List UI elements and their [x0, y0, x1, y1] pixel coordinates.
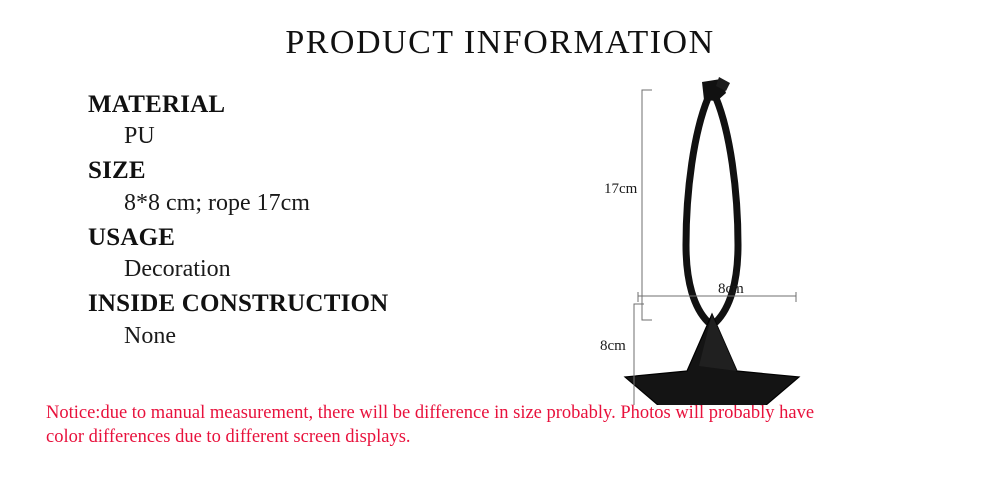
spec-label-inside-construction: INSIDE CONSTRUCTION: [88, 287, 558, 320]
spec-value-usage: Decoration: [88, 254, 558, 285]
star-shape: [625, 314, 799, 405]
rope-dimension-bracket: [642, 90, 652, 320]
rope-length-label: 17cm: [604, 181, 637, 198]
star-height-label: 8cm: [600, 338, 626, 355]
star-width-bracket: [638, 292, 796, 302]
star-tag-illustration: [590, 60, 930, 405]
product-figure: 17cm 8cm 8cm: [590, 60, 930, 405]
notice-line-1: Notice:due to manual measurement, there …: [46, 402, 958, 426]
spec-list: MATERIAL PU SIZE 8*8 cm; rope 17cm USAGE…: [88, 88, 558, 354]
star-width-label: 8cm: [718, 281, 744, 298]
spec-item-size: SIZE 8*8 cm; rope 17cm: [88, 154, 558, 218]
spec-value-inside-construction: None: [88, 321, 558, 352]
spec-label-material: MATERIAL: [88, 88, 558, 121]
spec-item-material: MATERIAL PU: [88, 88, 558, 152]
product-information-page: PRODUCT INFORMATION MATERIAL PU SIZE 8*8…: [0, 0, 1000, 479]
measurement-notice: Notice:due to manual measurement, there …: [46, 402, 958, 449]
spec-label-usage: USAGE: [88, 221, 558, 254]
spec-item-usage: USAGE Decoration: [88, 221, 558, 285]
rope-knot: [702, 77, 730, 101]
notice-line-2: color differences due to different scree…: [46, 426, 958, 450]
spec-value-size: 8*8 cm; rope 17cm: [88, 188, 558, 219]
spec-item-inside-construction: INSIDE CONSTRUCTION None: [88, 287, 558, 351]
spec-value-material: PU: [88, 121, 558, 152]
spec-label-size: SIZE: [88, 154, 558, 187]
page-title: PRODUCT INFORMATION: [0, 24, 1000, 62]
